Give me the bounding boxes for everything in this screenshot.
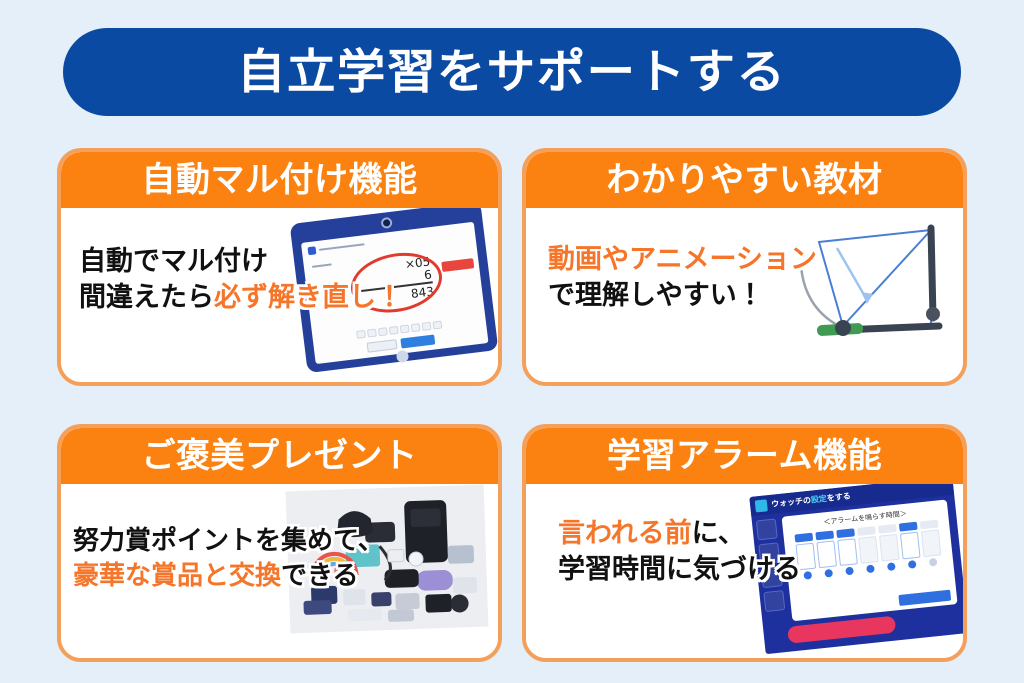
keypad-key bbox=[422, 322, 432, 331]
text-segment: できる bbox=[281, 561, 358, 591]
feature-card-auto-marking: 自動マル付け機能 ×05 6 843 bbox=[57, 148, 502, 386]
infographic-page: 自立学習をサポートする 自動マル付け機能 ×05 6 bbox=[0, 0, 1024, 683]
text-segment: に、 bbox=[692, 518, 745, 549]
text-segment: 間違えたら bbox=[79, 282, 214, 313]
text-segment: 努力賞ポイントを集めて、 bbox=[73, 526, 384, 556]
keypad-key bbox=[356, 330, 366, 339]
prize-small-item bbox=[425, 594, 452, 613]
geometry-blue-lines bbox=[819, 230, 931, 326]
prize-suitcase-panel bbox=[410, 508, 441, 527]
card-body-text-reward-present: 努力賞ポイントを集めて、 豪華な賞品と交換できる bbox=[73, 524, 384, 594]
card-body-text-auto-marking: 自動でマル付け 間違えたら必ず解き直し！ bbox=[79, 244, 403, 316]
day-label bbox=[815, 531, 834, 541]
alarm-day-column bbox=[815, 531, 838, 579]
prize-small-item bbox=[388, 609, 414, 622]
prize-small-item bbox=[371, 592, 391, 607]
alarm-day-column bbox=[878, 524, 901, 572]
day-label bbox=[899, 522, 918, 532]
card-body-text-easy-materials: 動画やアニメーション で理解しやすい！ bbox=[548, 242, 817, 314]
keypad-key bbox=[367, 329, 377, 338]
card-body-auto-marking: ×05 6 843 bbox=[61, 208, 498, 382]
card-text-line-1: 動画やアニメーション bbox=[548, 242, 817, 278]
card-text-line-1: 努力賞ポイントを集めて、 bbox=[73, 524, 384, 559]
prize-round-item bbox=[409, 552, 423, 566]
text-segment-highlight: 必ず解き直し！ bbox=[214, 282, 403, 313]
day-label bbox=[920, 520, 939, 530]
card-header-label: ご褒美プレゼント bbox=[142, 439, 418, 473]
feature-card-study-alarm: 学習アラーム機能 ウォッチの設定をする ＜アラームを鳴らす時間＞ bbox=[522, 424, 967, 662]
page-title: 自立学習をサポートする bbox=[237, 49, 787, 96]
screen-secondary-button bbox=[367, 339, 398, 353]
title-emphasis: 設定 bbox=[810, 494, 827, 505]
prize-small-item bbox=[303, 600, 331, 615]
card-body-easy-materials: 動画やアニメーション で理解しやすい！ bbox=[526, 208, 963, 382]
card-header-study-alarm: 学習アラーム機能 bbox=[526, 428, 963, 484]
toggle-icon bbox=[908, 560, 917, 569]
time-slot bbox=[816, 540, 837, 568]
day-label bbox=[878, 524, 897, 534]
time-slot bbox=[900, 532, 921, 560]
prize-small-item bbox=[348, 608, 382, 621]
pivot-joint-icon bbox=[926, 307, 940, 321]
frame-vertical-bar bbox=[931, 228, 933, 318]
keypad-key bbox=[411, 323, 421, 332]
screen-answer-tag bbox=[441, 258, 474, 272]
toggle-icon bbox=[824, 569, 833, 578]
prize-small-item bbox=[448, 545, 475, 564]
title-part-2: をする bbox=[826, 492, 851, 503]
motion-arrow-shaft bbox=[837, 248, 867, 300]
toggle-icon bbox=[929, 558, 938, 567]
alarm-day-column bbox=[857, 526, 880, 574]
text-segment-highlight: 動画やアニメーション bbox=[548, 244, 817, 275]
toggle-icon bbox=[866, 564, 875, 573]
alarm-day-column bbox=[836, 528, 859, 576]
text-segment: 自動でマル付け bbox=[79, 246, 268, 277]
card-header-label: 学習アラーム機能 bbox=[607, 439, 882, 473]
screen-primary-button bbox=[400, 334, 435, 348]
card-text-line-1: 自動でマル付け bbox=[79, 244, 403, 280]
card-text-line-2: 間違えたら必ず解き直し！ bbox=[79, 280, 403, 316]
prize-small-item bbox=[453, 577, 478, 594]
card-text-line-1: 言われる前に、 bbox=[558, 516, 801, 552]
toggle-icon bbox=[803, 571, 812, 580]
prize-small-item bbox=[395, 593, 420, 610]
page-title-banner: 自立学習をサポートする bbox=[63, 28, 961, 116]
toggle-icon bbox=[845, 567, 854, 576]
card-text-line-2: 学習時間に気づける bbox=[558, 552, 801, 588]
toggle-icon bbox=[887, 562, 896, 571]
time-slot bbox=[837, 538, 858, 566]
card-header-label: 自動マル付け機能 bbox=[142, 163, 418, 197]
day-label bbox=[836, 528, 855, 538]
card-body-text-study-alarm: 言われる前に、 学習時間に気づける bbox=[558, 516, 801, 588]
day-label bbox=[857, 526, 876, 536]
text-segment-highlight: 豪華な賞品と交換 bbox=[73, 561, 281, 591]
card-header-label: わかりやすい教材 bbox=[607, 163, 883, 197]
alarm-day-column bbox=[899, 522, 922, 570]
sidebar-button-icon bbox=[763, 590, 785, 612]
card-header-reward-present: ご褒美プレゼント bbox=[61, 428, 498, 484]
alarm-screen-title: ウォッチの設定をする bbox=[771, 491, 852, 510]
alarm-day-column bbox=[920, 520, 943, 568]
keypad-key bbox=[400, 324, 410, 333]
keypad-key bbox=[432, 320, 442, 329]
card-text-line-2: 豪華な賞品と交換できる bbox=[73, 559, 384, 594]
feature-card-easy-materials: わかりやすい教材 bbox=[522, 148, 967, 386]
text-segment: で理解しやすい！ bbox=[548, 280, 764, 311]
motion-arrow-head bbox=[861, 292, 873, 304]
card-header-auto-marking: 自動マル付け機能 bbox=[61, 152, 498, 208]
tablet-home-button-icon bbox=[396, 350, 409, 363]
time-slot bbox=[921, 529, 942, 557]
card-text-line-2: で理解しやすい！ bbox=[548, 278, 817, 314]
bob-joint-icon bbox=[835, 320, 851, 336]
card-body-reward-present: 努力賞ポイントを集めて、 豪華な賞品と交換できる bbox=[61, 484, 498, 658]
prize-purple-pouch bbox=[416, 570, 453, 591]
geometry-diagonal bbox=[843, 230, 931, 326]
text-segment: 学習時間に気づける bbox=[558, 554, 801, 585]
title-part-1: ウォッチの bbox=[771, 496, 812, 509]
time-slot bbox=[879, 534, 900, 562]
keypad-key bbox=[378, 327, 388, 336]
feature-card-reward-present: ご褒美プレゼント bbox=[57, 424, 502, 662]
time-slot bbox=[858, 536, 879, 564]
prize-small-item bbox=[388, 549, 404, 562]
card-header-easy-materials: わかりやすい教材 bbox=[526, 152, 963, 208]
app-logo-icon bbox=[755, 499, 768, 512]
card-body-study-alarm: ウォッチの設定をする ＜アラームを鳴らす時間＞ bbox=[526, 484, 963, 658]
text-segment-highlight: 言われる前 bbox=[558, 518, 692, 549]
keypad-key bbox=[389, 326, 399, 335]
